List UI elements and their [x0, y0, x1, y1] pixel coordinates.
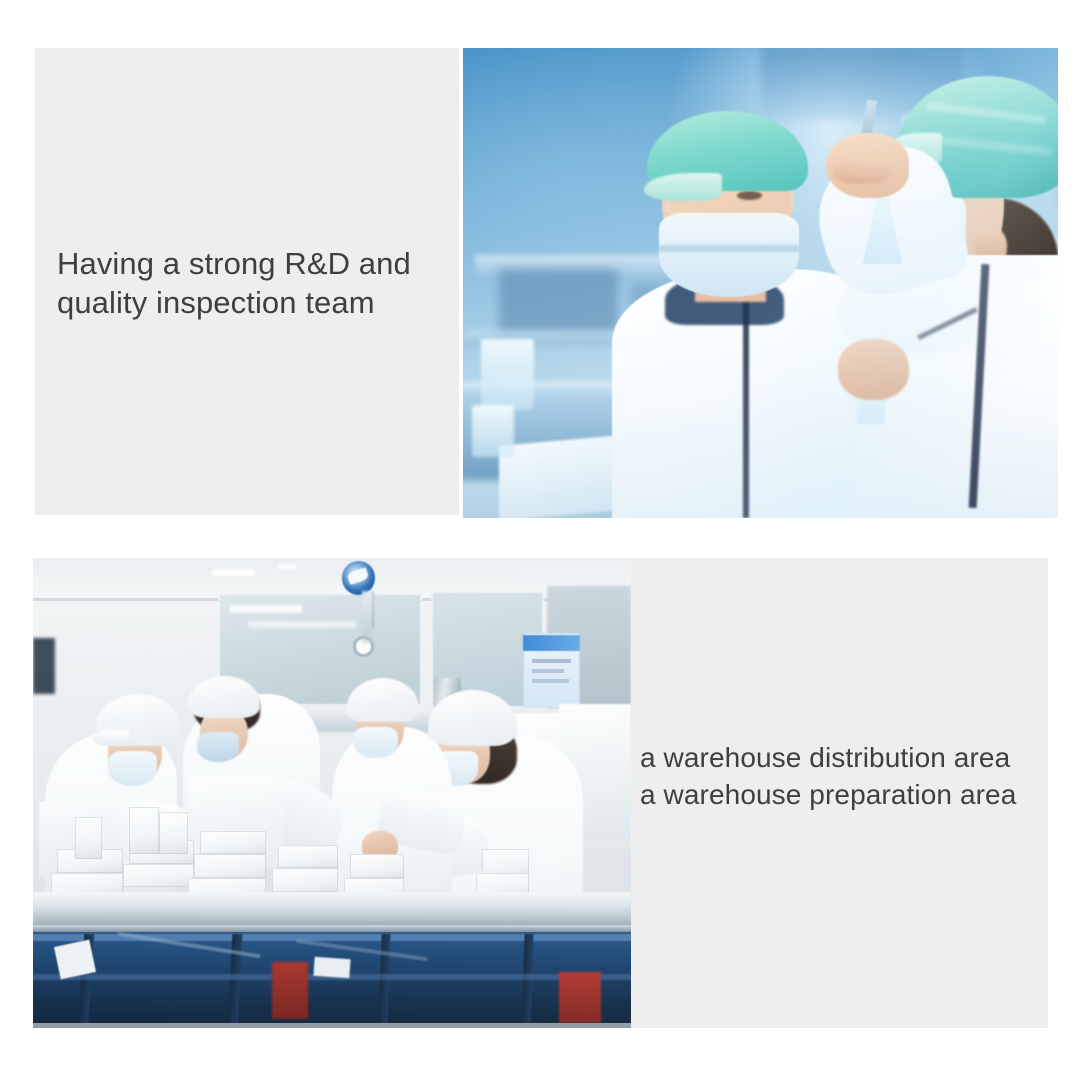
lab-inspection-photo — [463, 48, 1058, 518]
top-banner-row: Having a strong R&D and quality inspecti… — [35, 48, 1058, 518]
top-caption-panel: Having a strong R&D and quality inspecti… — [35, 48, 459, 515]
bottom-banner-row: a warehouse distribution area a warehous… — [33, 558, 1048, 1028]
warehouse-packing-photo — [33, 558, 631, 1028]
bottom-caption-text: a warehouse distribution area a warehous… — [640, 739, 1048, 813]
top-caption-text: Having a strong R&D and quality inspecti… — [57, 244, 457, 322]
photo-tint-overlay — [33, 558, 631, 1028]
bottom-caption-panel: a warehouse distribution area a warehous… — [631, 558, 1048, 1028]
photo-glare-overlay — [463, 48, 1058, 518]
